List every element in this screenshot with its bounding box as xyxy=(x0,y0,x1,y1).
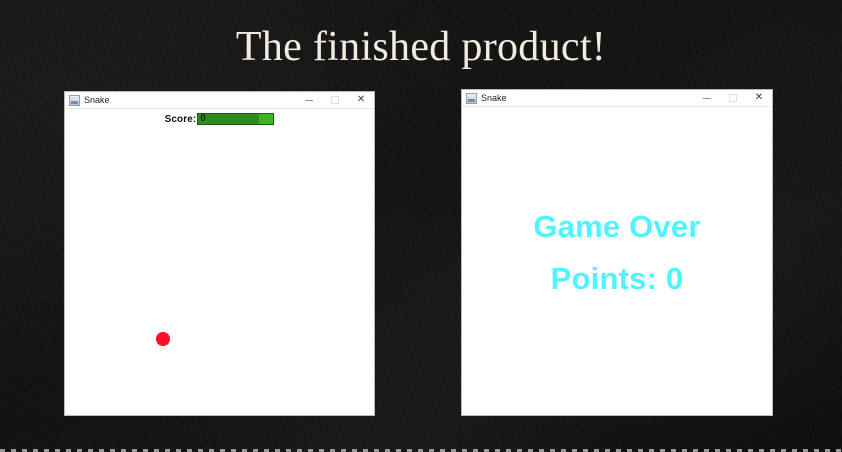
game-over-text: Game Over xyxy=(533,201,700,253)
score-bar-highlight xyxy=(259,114,273,124)
score-label: Score: xyxy=(165,114,197,125)
snake-game-window[interactable]: Snake ✕ Score: 0 xyxy=(64,91,375,416)
score-display: Score: 0 xyxy=(65,113,374,125)
close-icon[interactable]: ✕ xyxy=(348,92,374,109)
gameover-window-controls: ✕ xyxy=(694,90,772,106)
gameover-window-title: Snake xyxy=(481,93,507,104)
score-value: 0 xyxy=(198,114,206,124)
slide-canvas: The finished product! Snake ✕ Score: 0 xyxy=(0,0,842,452)
python-feather-icon xyxy=(69,95,80,106)
score-bar: 0 xyxy=(197,113,274,125)
minimize-icon[interactable] xyxy=(296,92,322,109)
points-text: Points: 0 xyxy=(551,253,684,305)
snake-food-dot xyxy=(156,332,170,346)
gameover-play-area[interactable]: Game Over Points: 0 xyxy=(462,107,772,414)
page-title: The finished product! xyxy=(0,22,842,72)
maximize-icon[interactable] xyxy=(322,92,348,109)
game-window-titlebar[interactable]: Snake ✕ xyxy=(65,92,374,109)
snake-gameover-window[interactable]: Snake ✕ Game Over Points: 0 xyxy=(461,89,773,416)
python-feather-icon xyxy=(466,93,477,104)
maximize-icon[interactable] xyxy=(720,90,746,107)
minimize-icon[interactable] xyxy=(694,90,720,107)
close-icon[interactable]: ✕ xyxy=(746,90,772,107)
game-window-title: Snake xyxy=(84,95,110,106)
game-window-controls: ✕ xyxy=(296,92,374,108)
game-play-area[interactable]: Score: 0 xyxy=(65,109,374,414)
gameover-window-titlebar[interactable]: Snake ✕ xyxy=(462,90,772,107)
